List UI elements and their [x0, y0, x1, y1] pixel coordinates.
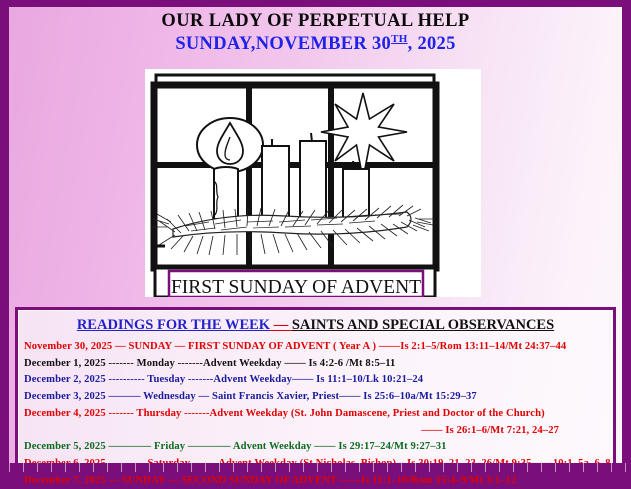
reading-line: November 30, 2025 — SUNDAY — FIRST SUNDA… [24, 339, 607, 356]
advent-wreath-illustration: FIRST SUNDAY OF ADVENT [145, 69, 481, 297]
flame-in-oval-icon [197, 118, 263, 172]
readings-heading-dash: — [270, 317, 292, 333]
illustration-caption: FIRST SUNDAY OF ADVENT [171, 277, 421, 297]
readings-heading-black: SAINTS AND SPECIAL OBSERVANCES [292, 317, 554, 333]
reading-line: December 3, 2025 ——— Wednesday — Saint F… [24, 389, 607, 406]
readings-heading-blue: READINGS FOR THE WEEK [77, 317, 270, 333]
reading-line: December 1, 2025 ------- Monday -------A… [24, 356, 607, 373]
bulletin-date-ordinal: TH [391, 33, 408, 45]
readings-panel: READINGS FOR THE WEEK — SAINTS AND SPECI… [15, 307, 616, 472]
reading-line: December 5, 2025 ———— Friday ———— Advent… [24, 439, 607, 456]
page-title: OUR LADY OF PERPETUAL HELP SUNDAY,NOVEMB… [9, 11, 622, 56]
reading-line: December 2, 2025 ---------- Tuesday ----… [24, 372, 607, 389]
reading-line: —— Is 26:1–6/Mt 7:21, 24–27 [24, 423, 607, 440]
bulletin-date-year: , 2025 [408, 34, 456, 54]
bulletin-date: SUNDAY,NOVEMBER 30TH, 2025 [9, 33, 622, 56]
readings-heading: READINGS FOR THE WEEK — SAINTS AND SPECI… [24, 316, 607, 335]
reading-line: December 7, 2025 — SUNDAY — SECOND SUNDA… [24, 473, 607, 489]
bulletin-page: OUR LADY OF PERPETUAL HELP SUNDAY,NOVEMB… [0, 0, 631, 485]
parish-name: OUR LADY OF PERPETUAL HELP [9, 11, 622, 33]
bulletin-date-main: SUNDAY,NOVEMBER 30 [175, 34, 391, 54]
reading-line: December 4, 2025 ------- Thursday ------… [24, 406, 607, 423]
bottom-ruler-strip [9, 463, 631, 472]
